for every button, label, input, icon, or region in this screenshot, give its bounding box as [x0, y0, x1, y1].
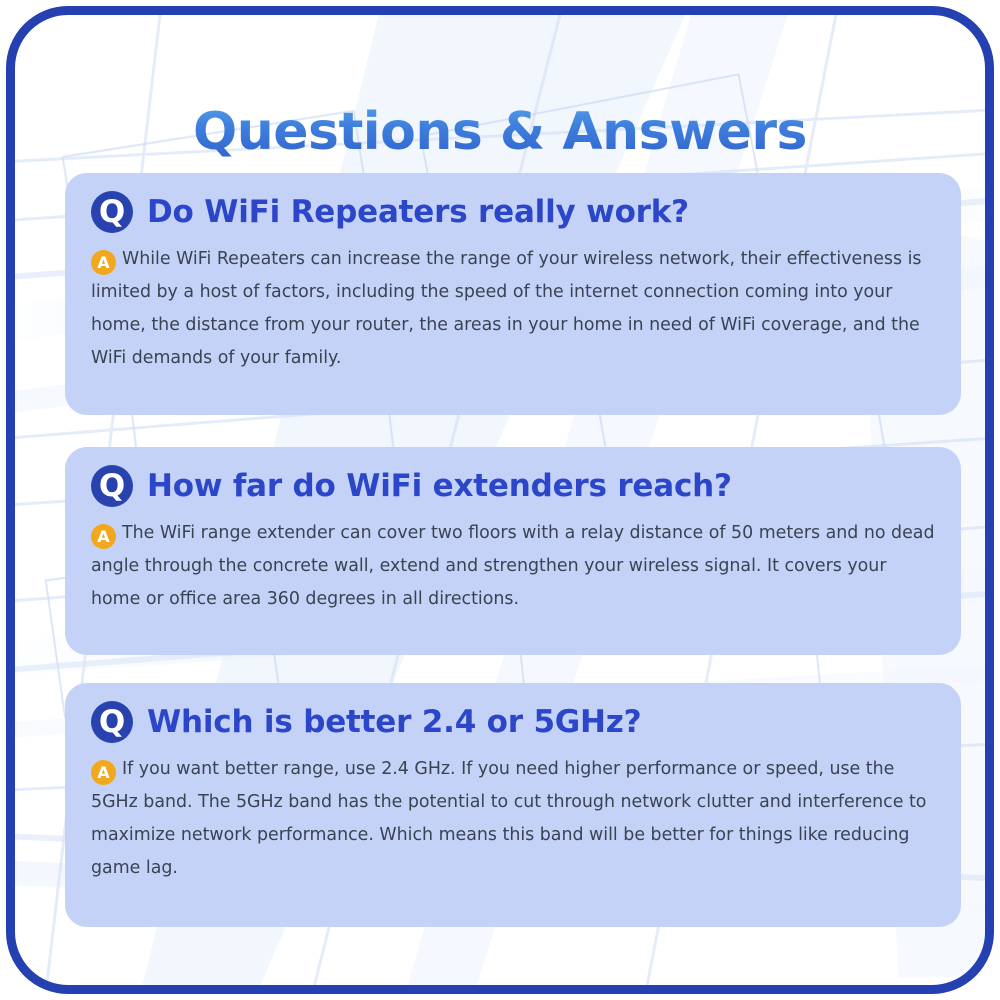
page-frame: Questions & Answers Q Do WiFi Repeaters …	[6, 6, 994, 994]
faq-card[interactable]: Q Which is better 2.4 or 5GHz? AIf you w…	[65, 683, 961, 927]
faq-content: Questions & Answers Q Do WiFi Repeaters …	[15, 15, 985, 985]
question-row: Q How far do WiFi extenders reach?	[91, 465, 935, 507]
faq-card[interactable]: Q Do WiFi Repeaters really work? AWhile …	[65, 173, 961, 415]
question-row: Q Do WiFi Repeaters really work?	[91, 191, 935, 233]
answer-block: AWhile WiFi Repeaters can increase the r…	[91, 243, 935, 375]
answer-badge-icon: A	[91, 760, 116, 785]
page-title: Questions & Answers	[15, 102, 985, 162]
question-row: Q Which is better 2.4 or 5GHz?	[91, 701, 935, 743]
question-badge-icon: Q	[91, 701, 133, 743]
answer-badge-icon: A	[91, 524, 116, 549]
answer-badge-icon: A	[91, 250, 116, 275]
answer-text: The WiFi range extender can cover two fl…	[91, 523, 934, 609]
faq-page: Questions & Answers Q Do WiFi Repeaters …	[0, 0, 1000, 1000]
answer-text: If you want better range, use 2.4 GHz. I…	[91, 759, 926, 878]
answer-block: AIf you want better range, use 2.4 GHz. …	[91, 753, 935, 885]
faq-card[interactable]: Q How far do WiFi extenders reach? AThe …	[65, 447, 961, 655]
answer-text: While WiFi Repeaters can increase the ra…	[91, 249, 921, 368]
question-badge-icon: Q	[91, 465, 133, 507]
question-text: Do WiFi Repeaters really work?	[147, 194, 689, 230]
question-badge-icon: Q	[91, 191, 133, 233]
question-text: Which is better 2.4 or 5GHz?	[147, 704, 641, 740]
question-text: How far do WiFi extenders reach?	[147, 468, 732, 504]
answer-block: AThe WiFi range extender can cover two f…	[91, 517, 935, 616]
